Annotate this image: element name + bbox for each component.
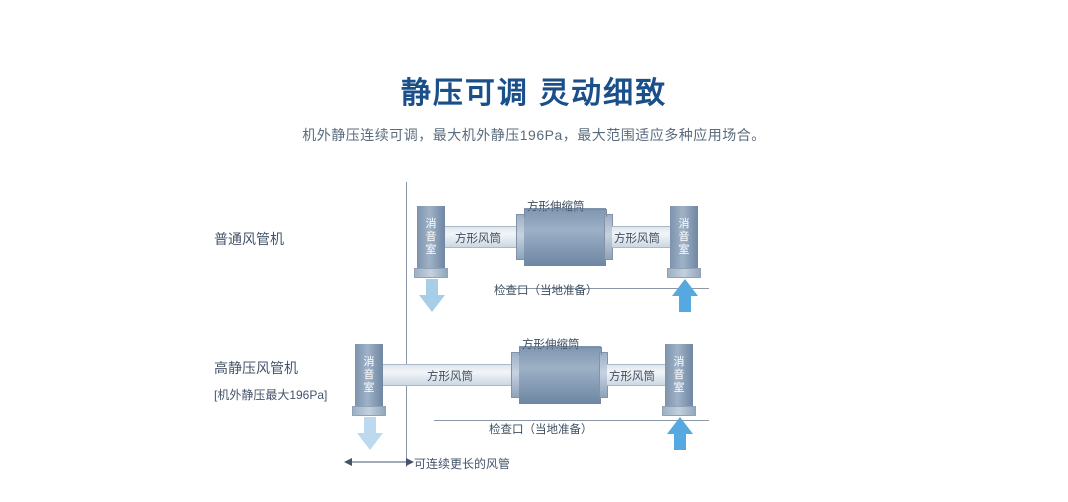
row-label-highstatic: 高静压风管机: [214, 358, 298, 378]
silencer-right-highstatic-label: 消音室: [672, 356, 686, 395]
telescope-label-standard: 方形伸缩筒: [527, 198, 585, 214]
airflow-down-arrow-highstatic: [356, 417, 384, 451]
inspection-label-highstatic: 检查口（当地准备）: [489, 421, 593, 437]
indoor-unit-standard: [524, 208, 606, 266]
silencer-left-highstatic-foot: [352, 406, 386, 416]
row-sublabel-highstatic: [机外静压最大196Pa]: [214, 386, 327, 403]
extension-dimension-arrow: [344, 455, 414, 469]
telescope-label-highstatic: 方形伸缩筒: [522, 336, 580, 352]
silencer-left-standard-foot: [414, 268, 448, 278]
airflow-up-arrow-highstatic: [666, 417, 694, 451]
row-label-standard: 普通风管机: [214, 229, 284, 249]
silencer-left-standard-label: 消音室: [424, 218, 438, 257]
duct-right-highstatic-label: 方形风筒: [609, 368, 655, 384]
silencer-right-standard-foot: [667, 268, 701, 278]
indoor-unit-highstatic: [519, 346, 601, 404]
silencer-right-highstatic-foot: [662, 406, 696, 416]
duct-left-highstatic-label: 方形风筒: [427, 368, 473, 384]
duct-right-standard-label: 方形风筒: [614, 230, 660, 246]
airflow-diagram: 普通风管机 消音室 方形风筒 方形伸缩筒 方形风筒 消音室 检查口（当地准备） …: [0, 0, 1068, 502]
telescope-leader-right-highstatic: [601, 347, 602, 355]
airflow-up-arrow-standard: [671, 279, 699, 313]
telescope-leader-right-standard: [606, 209, 607, 217]
inspection-label-standard: 检查口（当地准备）: [494, 282, 598, 298]
reference-vertical-line: [406, 182, 407, 467]
telescope-leader-top-highstatic: [519, 347, 602, 348]
telescope-leader-top-standard: [524, 209, 607, 210]
silencer-right-highstatic: 消音室: [665, 344, 693, 406]
airflow-down-arrow-standard: [418, 279, 446, 313]
silencer-left-highstatic-label: 消音室: [362, 356, 376, 395]
silencer-left-standard: 消音室: [417, 206, 445, 268]
bottom-note: 可连续更长的风管: [414, 455, 510, 472]
telescope-leader-left-standard: [524, 209, 525, 217]
duct-left-standard-label: 方形风筒: [455, 230, 501, 246]
silencer-right-standard: 消音室: [670, 206, 698, 268]
silencer-right-standard-label: 消音室: [677, 218, 691, 257]
silencer-left-highstatic: 消音室: [355, 344, 383, 406]
telescope-leader-left-highstatic: [519, 347, 520, 355]
